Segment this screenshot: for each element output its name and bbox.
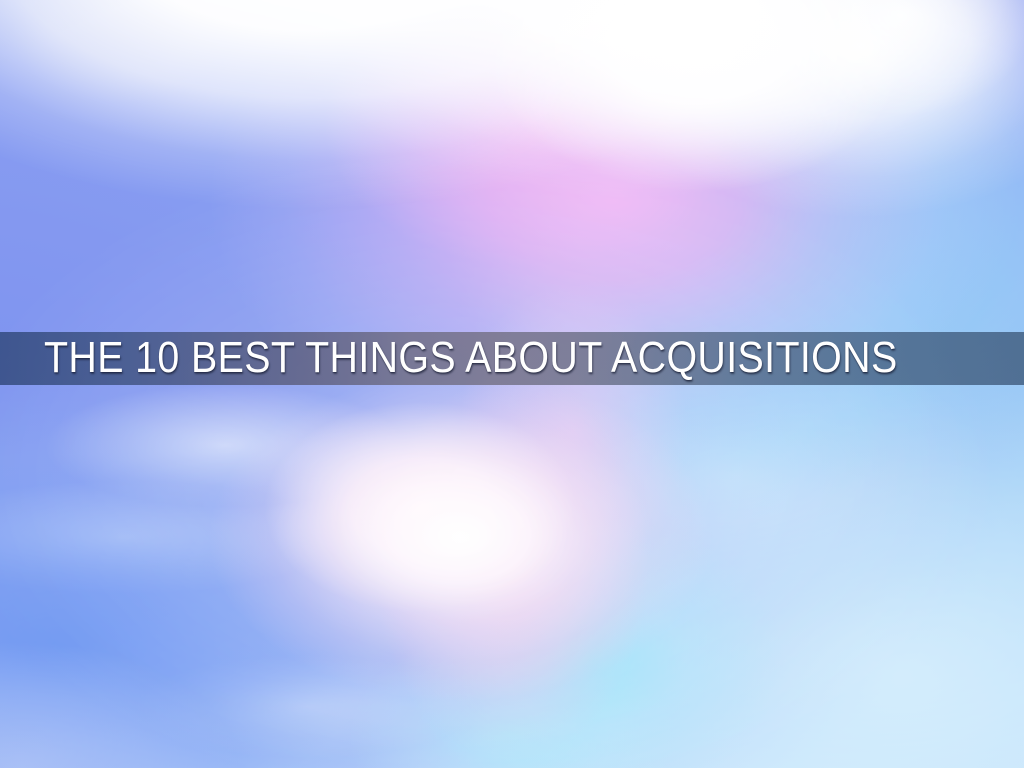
slide-title-band: THE 10 BEST THINGS ABOUT ACQUISITIONS [0, 332, 1024, 385]
slide-title: THE 10 BEST THINGS ABOUT ACQUISITIONS [44, 336, 898, 380]
presentation-slide: THE 10 BEST THINGS ABOUT ACQUISITIONS [0, 0, 1024, 768]
